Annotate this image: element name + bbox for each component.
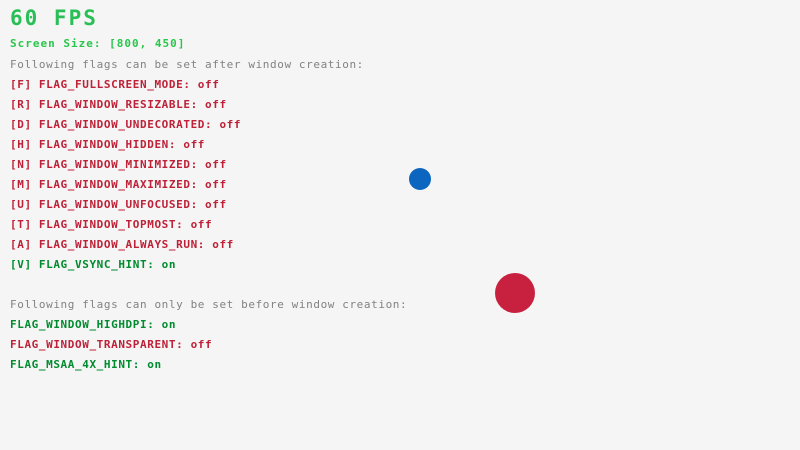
section-header-after-creation: Following flags can be set after window … bbox=[10, 59, 364, 70]
section-header-before-creation: Following flags can only be set before w… bbox=[10, 299, 407, 310]
blue-ball-shape bbox=[409, 168, 431, 190]
flag-row-flag-window-minimized[interactable]: [N] FLAG_WINDOW_MINIMIZED: off bbox=[10, 159, 227, 170]
flag-row-flag-window-undecorated[interactable]: [D] FLAG_WINDOW_UNDECORATED: off bbox=[10, 119, 241, 130]
flag-row-flag-window-hidden[interactable]: [H] FLAG_WINDOW_HIDDEN: off bbox=[10, 139, 205, 150]
app-canvas[interactable]: 60 FPS Screen Size: [800, 450] Following… bbox=[0, 0, 800, 450]
flag-row-flag-window-transparent[interactable]: FLAG_WINDOW_TRANSPARENT: off bbox=[10, 339, 212, 350]
flag-row-flag-window-resizable[interactable]: [R] FLAG_WINDOW_RESIZABLE: off bbox=[10, 99, 227, 110]
flag-row-flag-window-maximized[interactable]: [M] FLAG_WINDOW_MAXIMIZED: off bbox=[10, 179, 227, 190]
screen-size-label: Screen Size: [800, 450] bbox=[10, 38, 185, 49]
flag-row-flag-window-unfocused[interactable]: [U] FLAG_WINDOW_UNFOCUSED: off bbox=[10, 199, 227, 210]
flag-row-flag-msaa-4x-hint[interactable]: FLAG_MSAA_4X_HINT: on bbox=[10, 359, 162, 370]
maroon-ball-shape bbox=[495, 273, 535, 313]
flag-row-flag-fullscreen-mode[interactable]: [F] FLAG_FULLSCREEN_MODE: off bbox=[10, 79, 219, 90]
fps-counter: 60 FPS bbox=[10, 8, 98, 29]
flag-row-flag-window-topmost[interactable]: [T] FLAG_WINDOW_TOPMOST: off bbox=[10, 219, 212, 230]
flag-row-flag-vsync-hint[interactable]: [V] FLAG_VSYNC_HINT: on bbox=[10, 259, 176, 270]
flag-row-flag-window-highdpi[interactable]: FLAG_WINDOW_HIGHDPI: on bbox=[10, 319, 176, 330]
flag-row-flag-window-always-run[interactable]: [A] FLAG_WINDOW_ALWAYS_RUN: off bbox=[10, 239, 234, 250]
